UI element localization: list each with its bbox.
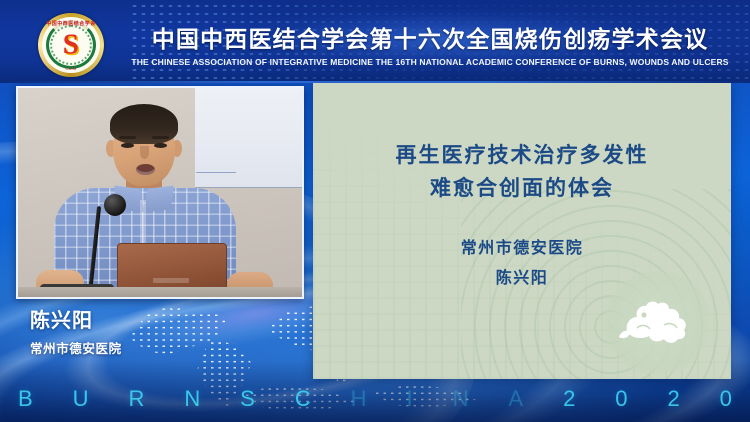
projection-screen-line — [196, 172, 236, 173]
wordmark-letter: R — [128, 386, 144, 412]
presentation-slide[interactable]: 再生医疗技术治疗多发性 难愈合创面的体会 常州市德安医院 陈兴阳 — [313, 83, 731, 379]
speaker-brow-left — [119, 136, 136, 139]
speaker-eye-left — [121, 143, 134, 148]
wordmark-letter: S — [240, 386, 255, 412]
wordmark-letter: I — [407, 386, 413, 412]
speaker-organization: 常州市德安医院 — [30, 338, 280, 357]
wordmark-letter: 2 — [667, 386, 679, 412]
conference-title-chinese: 中国中西医结合学会第十六次全国烧伤创疡学术会议 — [0, 20, 742, 54]
speaker-name-overlay: 陈兴阳 常州市德安医院 — [30, 304, 280, 357]
laptop-logo — [153, 278, 189, 283]
speaker-video-feed[interactable] — [16, 86, 304, 299]
speaker-mouth — [136, 164, 155, 175]
wordmark-letter: C — [295, 386, 311, 412]
slide-title: 再生医疗技术治疗多发性 难愈合创面的体会 — [313, 139, 731, 204]
wordmark-letter: N — [184, 386, 200, 412]
event-wordmark: B U R N S C H I N A 2 0 2 0 — [0, 382, 750, 416]
wordmark-letter: B — [18, 386, 33, 412]
slide-subtitle: 常州市德安医院 陈兴阳 — [313, 233, 731, 292]
conference-title-english: THE CHINESE ASSOCIATION OF INTEGRATIVE M… — [0, 57, 742, 67]
speaker-name: 陈兴阳 — [30, 304, 280, 333]
slide-title-line-2: 难愈合创面的体会 — [313, 172, 731, 205]
podium-edge — [18, 287, 304, 297]
wordmark-letter: H — [351, 386, 367, 412]
wordmark-letter: 0 — [615, 386, 627, 412]
slide-subtitle-org: 常州市德安医院 — [313, 233, 731, 263]
wordmark-letter: 0 — [720, 386, 732, 412]
conference-header-bar: 中国中西医结合学会 S CAIM 中国中西医结合学会第十六次全国烧伤创疡学术会议… — [0, 0, 750, 83]
slide-title-line-1: 再生医疗技术治疗多发性 — [313, 139, 731, 172]
speaker-collar-right — [144, 185, 174, 212]
conference-broadcast-frame: 中国中西医结合学会 S CAIM 中国中西医结合学会第十六次全国烧伤创疡学术会议… — [0, 0, 750, 422]
wordmark-letter: N — [453, 386, 469, 412]
wordmark-letter: 2 — [563, 386, 575, 412]
microphone-icon — [104, 194, 126, 216]
wordmark-letter: A — [508, 386, 523, 412]
dragon-ornament-icon — [617, 295, 695, 349]
slide-subtitle-author: 陈兴阳 — [313, 263, 731, 293]
speaker-brow-right — [152, 136, 169, 139]
speaker-nose — [140, 146, 149, 159]
wordmark-letter: U — [73, 386, 89, 412]
speaker-eye-right — [154, 143, 167, 148]
